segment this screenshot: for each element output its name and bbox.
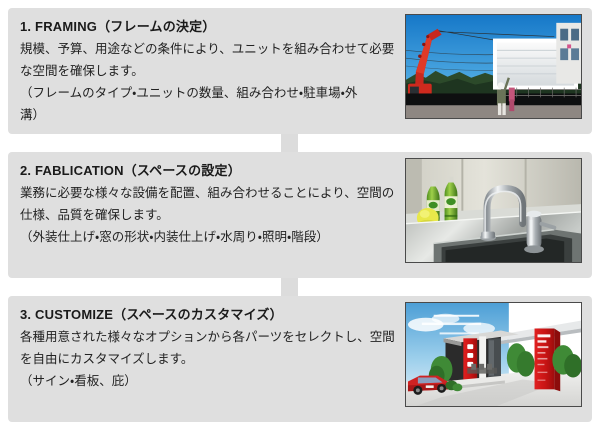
step-2-body-line-2: 仕様、品質を確保します。 xyxy=(20,204,400,226)
building-exterior-rendering xyxy=(405,302,582,407)
crane-photo-illustration xyxy=(406,15,581,118)
connector-step1-step2 xyxy=(281,131,298,153)
step-panel-3-customize: 3. CUSTOMIZE（スペースのカスタマイズ） 各種用意された様々なオプショ… xyxy=(8,296,592,422)
step-1-body-line-2: な空間を確保します。 xyxy=(20,60,400,82)
step-1-body: 規模、予算、用途などの条件により、ユニットを組み合わせて必要 な空間を確保します… xyxy=(20,38,400,126)
step-2-text-block: 2. FABLICATION（スペースの設定） 業務に必要な様々な設備を配置、組… xyxy=(20,160,400,248)
step-3-body-line-2: を自由にカスタマイズします。 xyxy=(20,348,400,370)
step-3-text-block: 3. CUSTOMIZE（スペースのカスタマイズ） 各種用意された様々なオプショ… xyxy=(20,304,400,392)
step-panel-2-fablication: 2. FABLICATION（スペースの設定） 業務に必要な様々な設備を配置、組… xyxy=(8,152,592,278)
building-rendering-illustration xyxy=(406,303,581,406)
step-1-body-line-1: 規模、予算、用途などの条件により、ユニットを組み合わせて必要 xyxy=(20,38,400,60)
step-1-title: 1. FRAMING（フレームの決定） xyxy=(20,16,400,37)
crane-lifting-module-photo xyxy=(405,14,582,119)
step-3-body-line-3: （サイン・看板、庇） xyxy=(20,370,400,392)
step-2-body-line-3: （外装仕上げ・窓の形状・内装仕上げ・水周り・照明・階段） xyxy=(20,226,400,248)
process-flow-diagram: 1. FRAMING（フレームの決定） 規模、予算、用途などの条件により、ユニッ… xyxy=(0,0,600,431)
step-1-body-line-4: 溝） xyxy=(20,104,400,126)
kitchen-sink-faucet-photo xyxy=(405,158,582,263)
step-3-title: 3. CUSTOMIZE（スペースのカスタマイズ） xyxy=(20,304,400,325)
step-2-body: 業務に必要な様々な設備を配置、組み合わせることにより、空間の 仕様、品質を確保し… xyxy=(20,182,400,248)
kitchen-photo-illustration xyxy=(406,159,581,262)
step-3-body-line-1: 各種用意された様々なオプションから各パーツをセレクトし、空間 xyxy=(20,326,400,348)
step-panel-1-framing: 1. FRAMING（フレームの決定） 規模、予算、用途などの条件により、ユニッ… xyxy=(8,8,592,134)
step-1-text-block: 1. FRAMING（フレームの決定） 規模、予算、用途などの条件により、ユニッ… xyxy=(20,16,400,126)
step-3-body: 各種用意された様々なオプションから各パーツをセレクトし、空間 を自由にカスタマイ… xyxy=(20,326,400,392)
step-2-body-line-1: 業務に必要な様々な設備を配置、組み合わせることにより、空間の xyxy=(20,182,400,204)
step-2-title: 2. FABLICATION（スペースの設定） xyxy=(20,160,400,181)
step-1-body-line-3: （フレームのタイプ・ユニットの数量、組み合わせ・駐車場・外 xyxy=(20,82,400,104)
